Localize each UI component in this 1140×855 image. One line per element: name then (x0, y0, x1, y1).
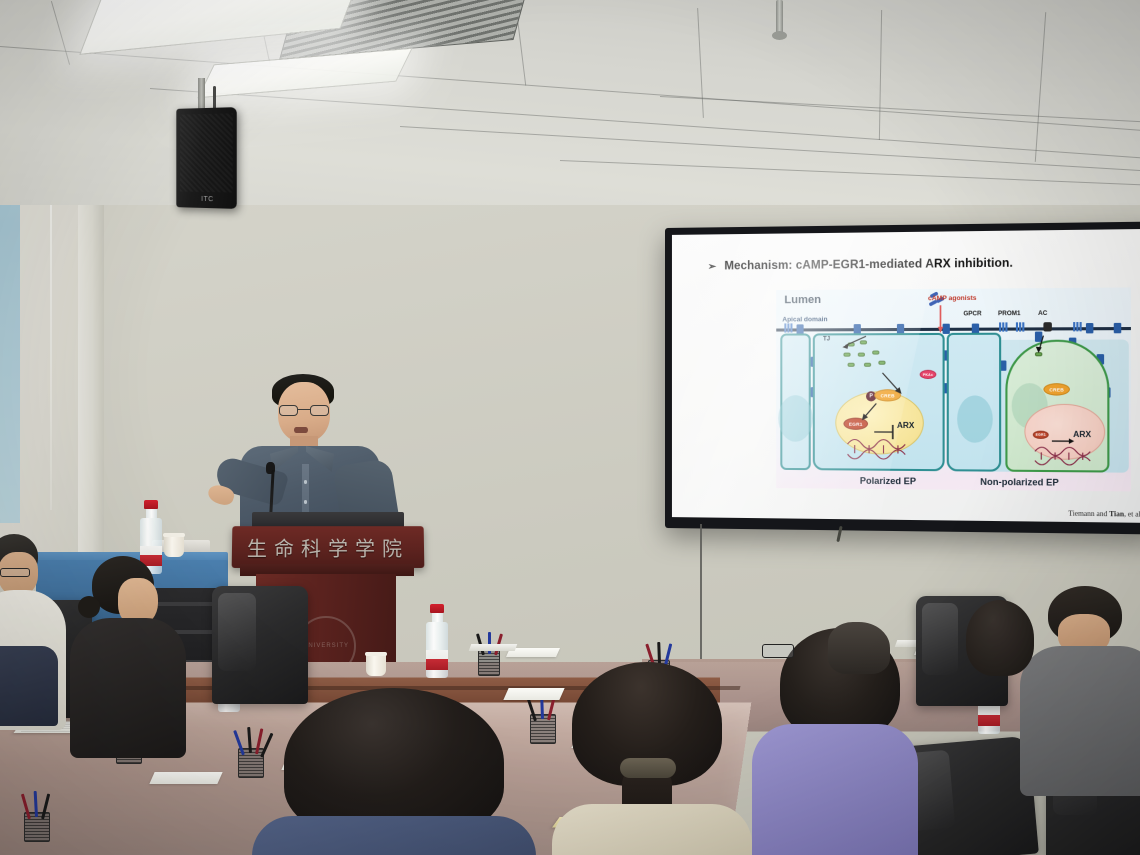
hair-bun (78, 596, 100, 618)
slide-figure: PKAc P CREB CREB EGR1 EGR1 ARX ARX (776, 287, 1131, 491)
name-card-holder (469, 644, 518, 651)
tight-junction-label: TJ (823, 336, 830, 342)
eyeglasses (762, 644, 794, 658)
prom1-label: PROM1 (998, 311, 1020, 317)
wall-mounted-tv[interactable]: ➢Mechanism: cAMP-EGR1-mediated ARX inhib… (665, 221, 1140, 534)
audience-member (258, 688, 528, 855)
citation-suffix: , et al. 2 (1124, 510, 1140, 519)
audience-member (74, 556, 180, 756)
audience-member (0, 534, 66, 724)
presenter-mouth (294, 427, 308, 433)
audience-member (966, 600, 1036, 680)
drop-ceiling (0, 0, 1140, 205)
tv-screen: ➢Mechanism: cAMP-EGR1-mediated ARX inhib… (672, 229, 1140, 523)
office-chair[interactable] (212, 586, 308, 704)
apical-domain-label: Apical domain (782, 316, 827, 323)
audience-member (1024, 586, 1140, 786)
pen-holder[interactable] (478, 650, 500, 676)
note-paper[interactable] (149, 772, 222, 784)
paper-cup[interactable] (164, 533, 184, 557)
gpcr-label: GPCR (963, 311, 981, 317)
speaker-mount-bracket (198, 78, 205, 112)
slide-title-line: ➢Mechanism: cAMP-EGR1-mediated ARX inhib… (708, 257, 1013, 272)
pen-holder[interactable] (24, 812, 50, 842)
nonpolarized-ep-label: Non-polarized EP (980, 477, 1059, 488)
speaker-brand-label: ITC (201, 196, 213, 203)
ac-label: AC (1038, 311, 1047, 317)
water-bottle[interactable] (426, 604, 448, 678)
presenter-glasses (278, 405, 330, 416)
polarized-ep-label: Polarized EP (860, 476, 916, 487)
camp-agonists-label: cAMP agonists (928, 295, 976, 303)
citation-author-bold: Tian (1109, 510, 1124, 518)
eyeglasses (0, 568, 30, 577)
lumen-label: Lumen (784, 294, 821, 306)
citation-prefix: Tiemann and (1068, 509, 1109, 518)
hair-scrunchie (620, 758, 676, 778)
slide-citation: Tiemann and Tian, et al. 2 (1068, 509, 1140, 518)
podium-sign-text: 生命科学学院 (247, 533, 409, 562)
slide-title-text: Mechanism: cAMP-EGR1-mediated ARX inhibi… (724, 257, 1013, 272)
tv-power-cable (700, 524, 702, 674)
audience-member (536, 662, 756, 855)
wall-speaker: ITC (176, 107, 236, 209)
hair-claw-clip (828, 622, 890, 674)
bullet-arrow-icon: ➢ (708, 261, 716, 272)
seminar-room-photo: ITC ➢Mechanism: cAMP-EGR1-mediated ARX i… (0, 0, 1140, 855)
paper-cup[interactable] (366, 652, 386, 676)
sprinkler-head (776, 0, 783, 34)
audience-member (728, 628, 918, 855)
podium-front-panel: 生命科学学院 (232, 526, 425, 568)
figure-arrows (776, 287, 1131, 491)
